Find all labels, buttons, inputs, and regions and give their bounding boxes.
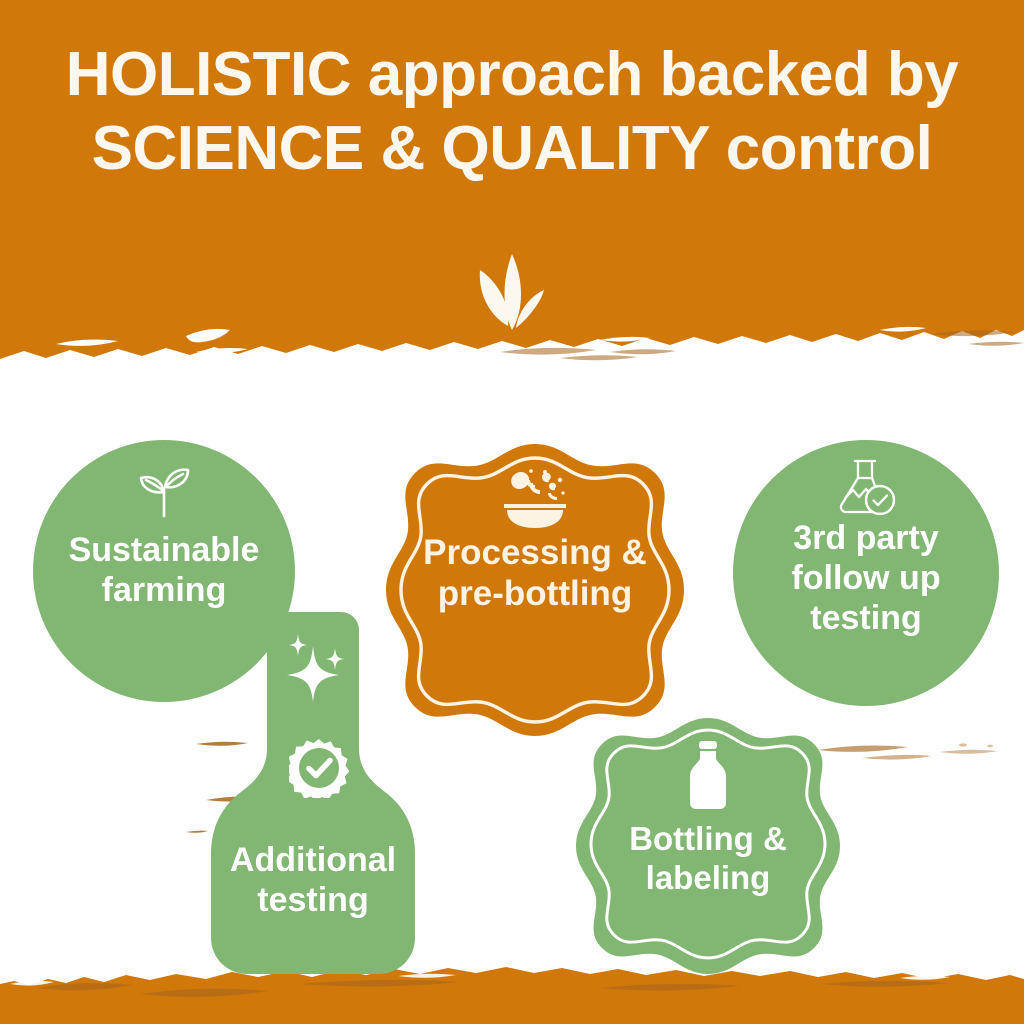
step-bottling-labeling[interactable]: Bottling & labeling bbox=[570, 714, 846, 980]
sustainable-farming-label: Sustainable farming bbox=[33, 530, 295, 610]
label-line-2: labeling bbox=[570, 859, 846, 898]
label-line-1: Bottling & bbox=[570, 820, 846, 859]
label-line-2: farming bbox=[33, 570, 295, 610]
label-line-2: pre-bottling bbox=[378, 573, 692, 614]
label-line-2: follow up bbox=[733, 558, 999, 598]
mixing-bowl-icon bbox=[500, 466, 570, 528]
label-line-1: Additional bbox=[205, 840, 421, 880]
step-third-party-testing[interactable]: 3rd party follow up testing bbox=[733, 440, 999, 706]
sparkles-icon bbox=[279, 632, 351, 704]
headline-line-2: SCIENCE & QUALITY control bbox=[8, 112, 1016, 186]
label-line-1: Sustainable bbox=[33, 530, 295, 570]
badge-check-icon bbox=[289, 738, 349, 798]
step-processing-pre-bottling[interactable]: Processing & pre-bottling bbox=[378, 440, 692, 740]
headline-line-1: HOLISTIC approach backed by bbox=[8, 38, 1016, 112]
label-line-1: Processing & bbox=[378, 532, 692, 573]
flask-check-icon bbox=[835, 456, 897, 516]
milk-bottle-icon bbox=[684, 740, 732, 810]
infographic-canvas: Sustainable farming 3rd party follow u bbox=[0, 0, 1024, 1024]
additional-testing-label: Additional testing bbox=[205, 840, 421, 920]
bottling-labeling-label: Bottling & labeling bbox=[570, 820, 846, 898]
page-title: HOLISTIC approach backed by SCIENCE & QU… bbox=[0, 38, 1024, 186]
processing-pre-bottling-label: Processing & pre-bottling bbox=[378, 532, 692, 615]
leaf-mark-icon bbox=[462, 252, 562, 332]
third-party-testing-label: 3rd party follow up testing bbox=[733, 518, 999, 638]
header-band: HOLISTIC approach backed by SCIENCE & QU… bbox=[0, 0, 1024, 372]
label-line-2: testing bbox=[205, 880, 421, 920]
sprout-icon bbox=[132, 462, 196, 520]
bottom-brush-band-decoration bbox=[0, 944, 1024, 1024]
label-line-3: testing bbox=[733, 598, 999, 638]
label-line-1: 3rd party bbox=[733, 518, 999, 558]
